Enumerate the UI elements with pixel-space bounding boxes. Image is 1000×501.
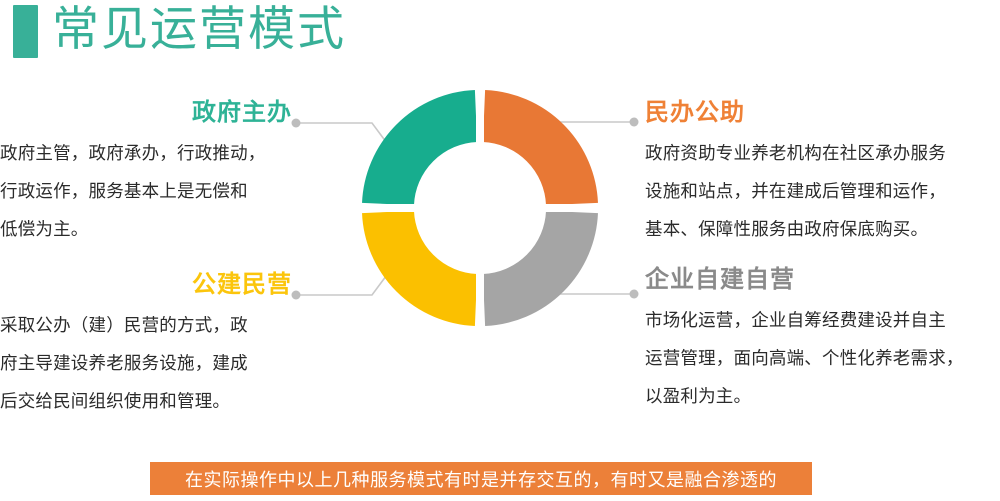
- body-line: 低偿为主。: [0, 210, 292, 248]
- donut-segment-bottom-left: [388, 212, 476, 300]
- body-line: 设施和站点，并在建成后管理和运作，: [645, 172, 995, 210]
- page-header: 常见运营模式: [0, 0, 1000, 70]
- body-line: 政府主管，政府承办，行政推动，: [0, 134, 292, 172]
- mode-body-government-run: 政府主管，政府承办，行政推动， 行政运作，服务基本上是无偿和 低偿为主。: [0, 134, 292, 248]
- body-line: 以盈利为主。: [645, 377, 1000, 415]
- body-line: 市场化运营，企业自筹经费建设并自主: [645, 301, 1000, 339]
- body-line: 府主导建设养老服务设施，建成: [0, 344, 292, 382]
- donut-segment-bottom-right: [484, 212, 572, 300]
- title-accent-bar: [13, 5, 38, 58]
- mode-block-government-run: 政府主办 政府主管，政府承办，行政推动， 行政运作，服务基本上是无偿和 低偿为主…: [0, 98, 292, 248]
- footer-banner: 在实际操作中以上几种服务模式有时是并存交互的，有时又是融合渗透的: [150, 462, 812, 495]
- mode-body-private-run-public-aided: 政府资助专业养老机构在社区承办服务 设施和站点，并在建成后管理和运作， 基本、保…: [645, 134, 995, 248]
- donut-chart: [352, 80, 608, 336]
- body-line: 行政运作，服务基本上是无偿和: [0, 172, 292, 210]
- body-line: 运营管理，面向高端、个性化养老需求，: [645, 339, 1000, 377]
- connector-dot-bottom-left: [292, 291, 301, 300]
- donut-segment-top-left: [388, 116, 476, 204]
- donut-segment-top-right: [484, 116, 572, 204]
- mode-block-private-run-public-aided: 民办公助 政府资助专业养老机构在社区承办服务 设施和站点，并在建成后管理和运作，…: [645, 98, 995, 248]
- connector-dot-top-left: [292, 119, 301, 128]
- mode-heading-government-run: 政府主办: [0, 98, 292, 128]
- body-line: 政府资助专业养老机构在社区承办服务: [645, 134, 995, 172]
- mode-heading-private-run-public-aided: 民办公助: [645, 98, 995, 128]
- page-title: 常见运营模式: [52, 0, 346, 62]
- body-line: 后交给民间组织使用和管理。: [0, 382, 292, 420]
- donut-gap-mask: [352, 80, 608, 336]
- mode-heading-public-built-private-run: 公建民营: [0, 270, 292, 300]
- connector-dot-bottom-right: [630, 290, 639, 299]
- mode-block-public-built-private-run: 公建民营 采取公办（建）民营的方式，政 府主导建设养老服务设施，建成 后交给民间…: [0, 270, 292, 420]
- footer-banner-text: 在实际操作中以上几种服务模式有时是并存交互的，有时又是融合渗透的: [185, 466, 777, 492]
- mode-body-enterprise-self-built: 市场化运营，企业自筹经费建设并自主 运营管理，面向高端、个性化养老需求， 以盈利…: [645, 301, 1000, 415]
- body-line: 采取公办（建）民营的方式，政: [0, 306, 292, 344]
- mode-body-public-built-private-run: 采取公办（建）民营的方式，政 府主导建设养老服务设施，建成 后交给民间组织使用和…: [0, 306, 292, 420]
- mode-block-enterprise-self-built: 企业自建自营 市场化运营，企业自筹经费建设并自主 运营管理，面向高端、个性化养老…: [645, 265, 1000, 415]
- mode-heading-enterprise-self-built: 企业自建自营: [645, 265, 1000, 295]
- body-line: 基本、保障性服务由政府保底购买。: [645, 210, 995, 248]
- connector-dot-top-right: [630, 118, 639, 127]
